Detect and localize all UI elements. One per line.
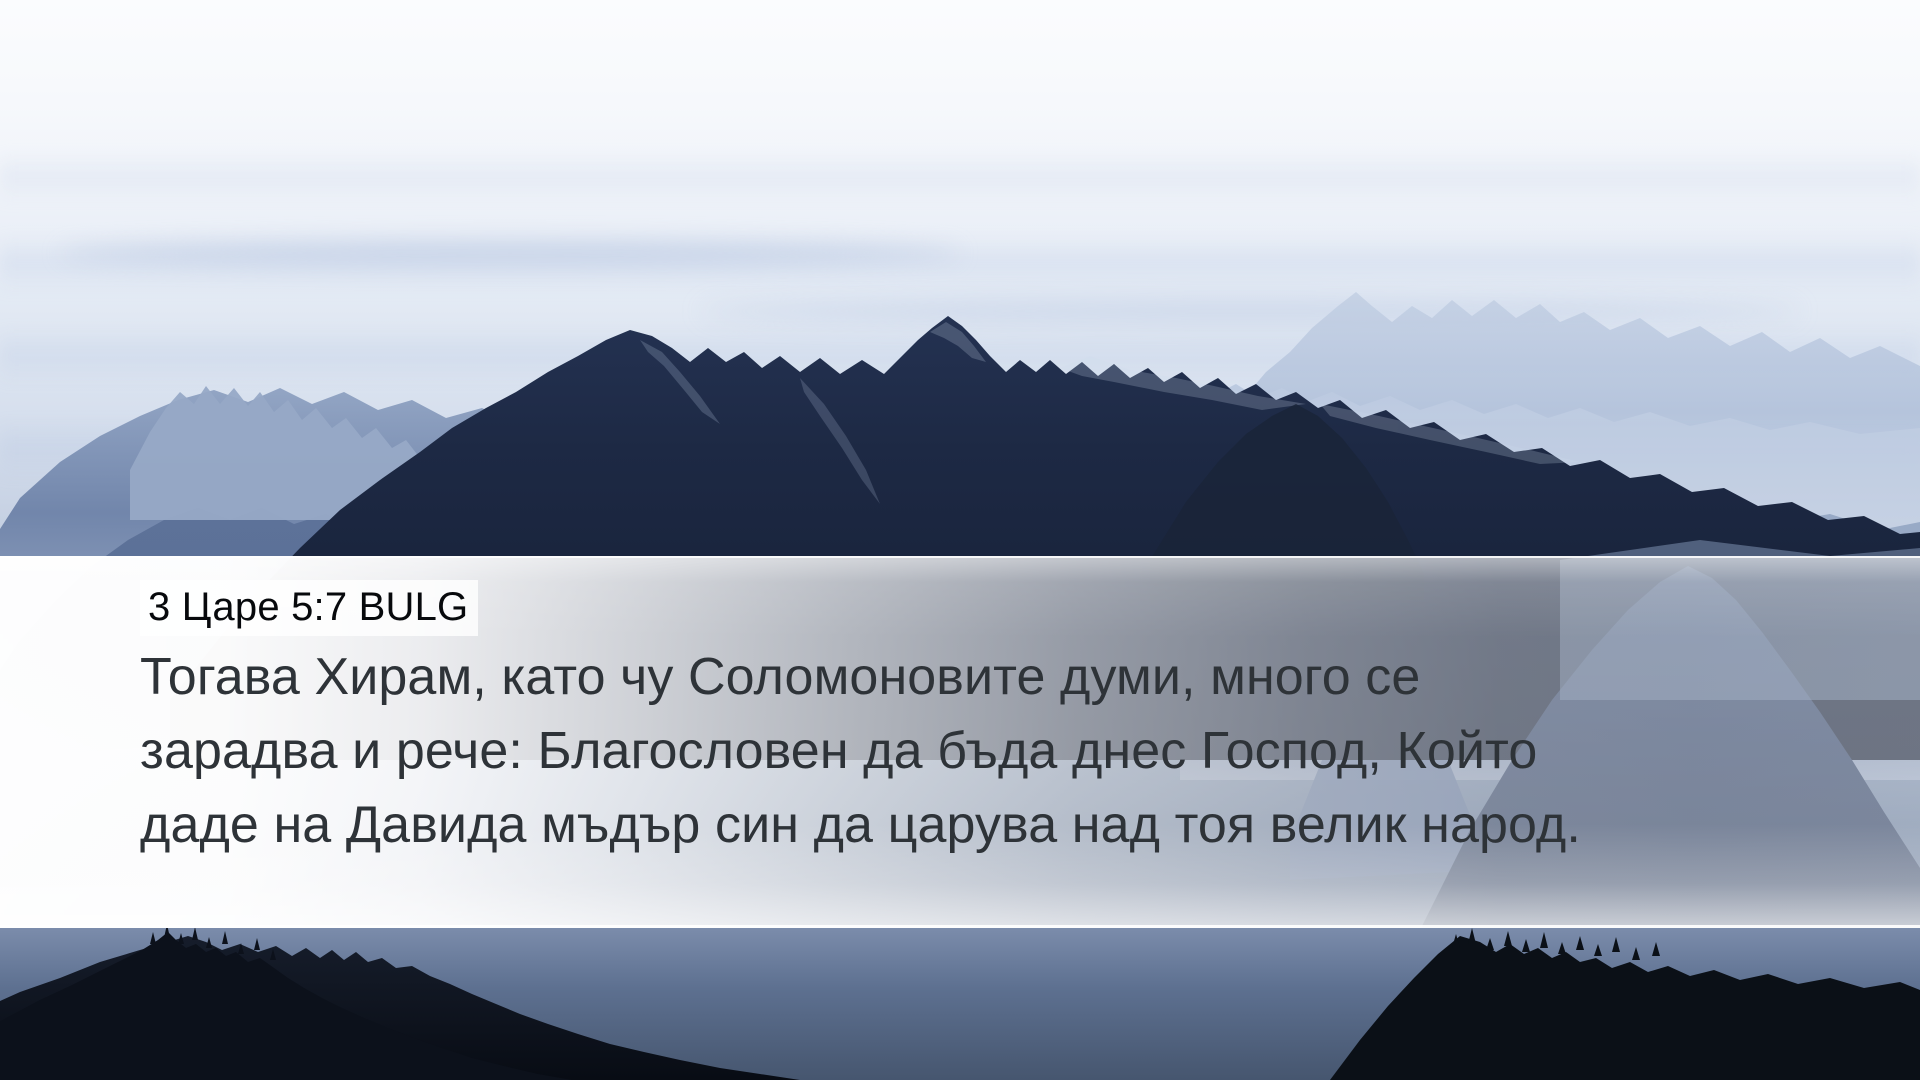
verse-body: Тогава Хирам, като чу Соломоновите думи,… bbox=[140, 640, 1820, 862]
verse-text-block: 3 Царе 5:7 BULG Тогава Хирам, като чу Со… bbox=[0, 556, 1920, 928]
verse-slide: 3 Царе 5:7 BULG Тогава Хирам, като чу Со… bbox=[0, 0, 1920, 1080]
verse-reference: 3 Царе 5:7 BULG bbox=[140, 580, 478, 636]
verse-line-2: зарадва и рече: Благословен да бъда днес… bbox=[140, 714, 1820, 788]
verse-line-3: даде на Давида мъдър син да царува над т… bbox=[140, 788, 1820, 862]
verse-line-1: Тогава Хирам, като чу Соломоновите думи,… bbox=[140, 640, 1820, 714]
